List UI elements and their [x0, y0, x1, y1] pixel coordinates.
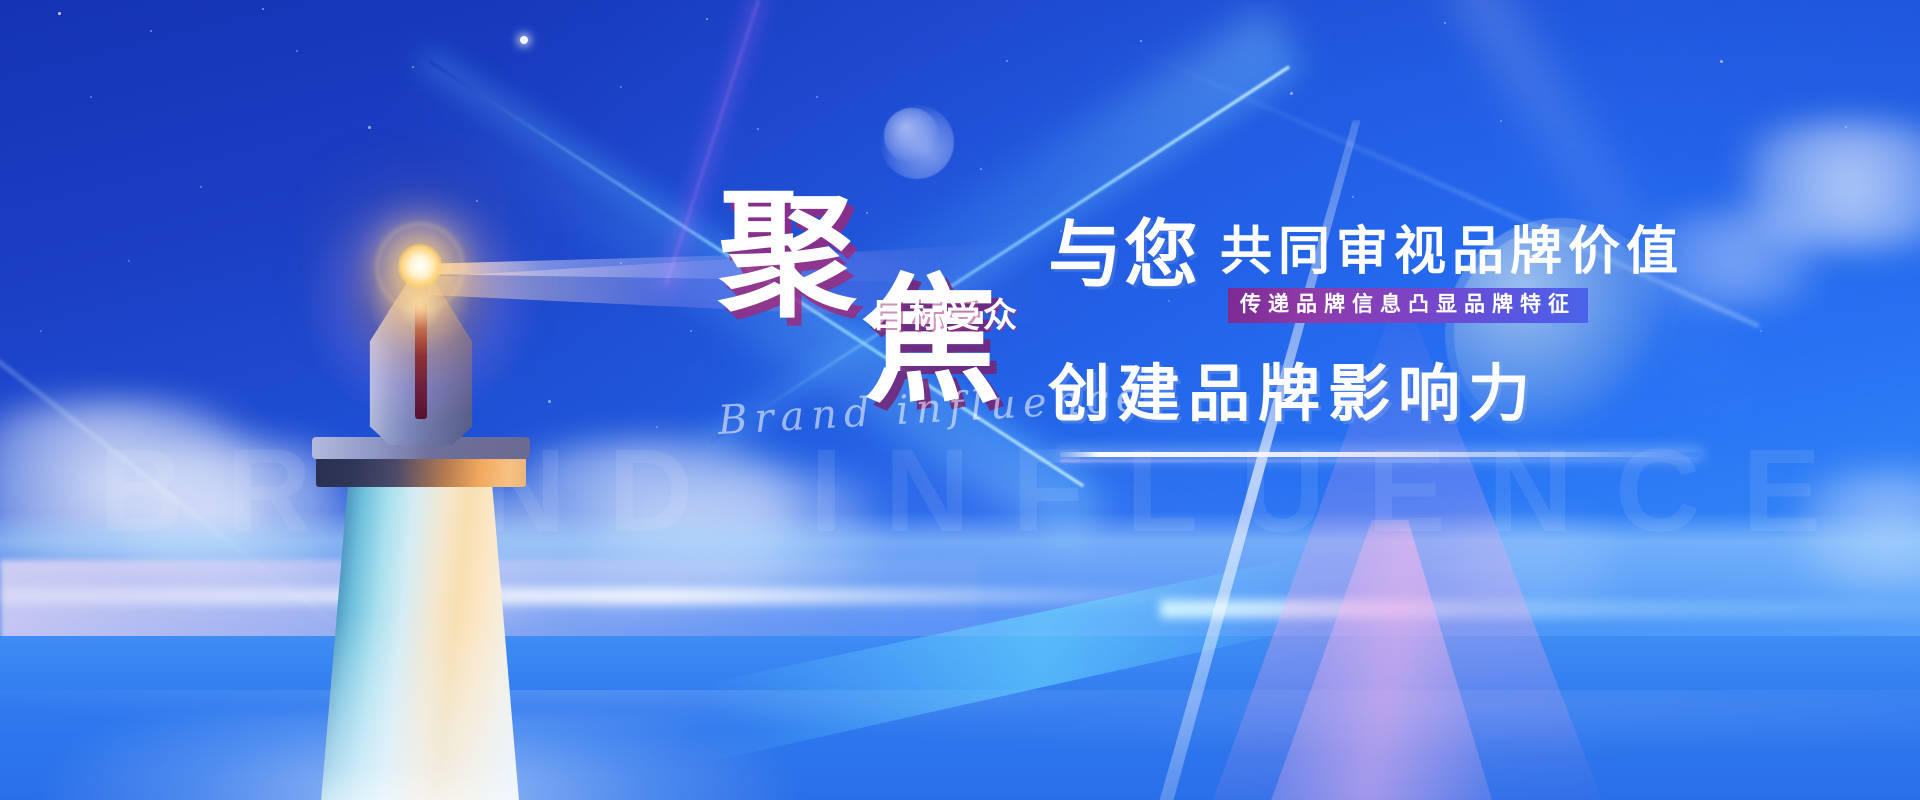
pen-nib-slit — [415, 301, 427, 419]
headline-line-2: 创建品牌影响力 — [1048, 364, 1538, 426]
lead-text: 与您 — [1048, 218, 1200, 292]
headline-divider — [1060, 452, 1700, 457]
moon-icon — [880, 105, 954, 179]
horizon-flare-left — [0, 588, 1200, 604]
tagline-badge: 传递品牌信息凸显品牌特征 — [1228, 288, 1588, 323]
target-audience-label: 目标受众 — [872, 288, 1020, 337]
headline-line-1-row: 与您 共同审视品牌价值 传递品牌信息凸显品牌特征 — [1048, 212, 1748, 298]
lighthouse-tower-shade — [320, 483, 520, 800]
banner-canvas: BRAND INFLUENCE 聚 焦 目标受众 Brand influence… — [0, 0, 1920, 800]
headline-divider-glow — [1060, 460, 1680, 462]
headline-char-ju: 聚 — [718, 186, 856, 324]
right-text-column: 与您 共同审视品牌价值 传递品牌信息凸显品牌特征 创建品牌影响力 — [1048, 212, 1748, 298]
pen-nib-lighthouse — [250, 215, 580, 800]
headline-line-1: 共同审视品牌价值 — [1220, 226, 1684, 278]
lighthouse-lamp — [397, 243, 443, 289]
